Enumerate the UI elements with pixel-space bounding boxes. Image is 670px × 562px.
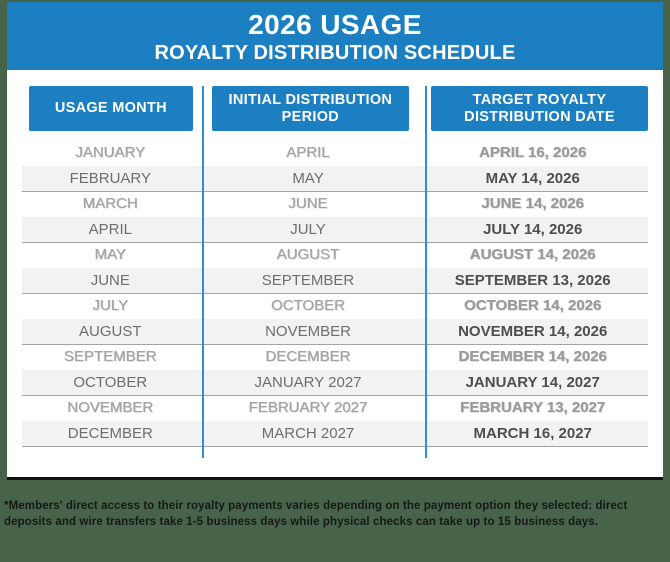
table-header-row: USAGE MONTH INITIAL DISTRIBUTION PERIOD … [22, 86, 648, 131]
cell-usage-month: JULY [22, 297, 199, 314]
schedule-table: USAGE MONTH INITIAL DISTRIBUTION PERIOD … [7, 86, 663, 446]
cell-usage-month: FEBRUARY [22, 170, 199, 187]
cell-usage-month: JANUARY [22, 144, 199, 161]
cell-target-date: JULY 14, 2026 [417, 221, 648, 238]
table-row: OCTOBER JANUARY 2027 JANUARY 14, 2027 [22, 370, 648, 396]
cell-initial-period: SEPTEMBER [199, 272, 418, 289]
footnote-text: *Members' direct access to their royalty… [0, 498, 670, 530]
column-divider-1 [202, 86, 204, 458]
table-row: SEPTEMBER DECEMBER DECEMBER 14, 2026 [22, 344, 648, 370]
column-header-target-royalty-distribution-date: TARGET ROYALTY DISTRIBUTION DATE [431, 86, 648, 131]
cell-usage-month: JUNE [22, 272, 199, 289]
cell-target-date: AUGUST 14, 2026 [417, 246, 648, 263]
cell-target-date: MAY 14, 2026 [417, 170, 648, 187]
cell-target-date: MARCH 16, 2027 [417, 425, 648, 442]
cell-initial-period: AUGUST [199, 246, 418, 263]
cell-target-date: FEBRUARY 13, 2027 [417, 399, 648, 416]
table-row: DECEMBER MARCH 2027 MARCH 16, 2027 [22, 421, 648, 447]
cell-initial-period: MARCH 2027 [199, 425, 418, 442]
cell-initial-period: DECEMBER [199, 348, 418, 365]
cell-usage-month: MARCH [22, 195, 199, 212]
cell-initial-period: JUNE [199, 195, 418, 212]
page-subtitle: ROYALTY DISTRIBUTION SCHEDULE [7, 41, 663, 65]
schedule-card: 2026 USAGE ROYALTY DISTRIBUTION SCHEDULE… [7, 2, 663, 480]
table-row: NOVEMBER FEBRUARY 2027 FEBRUARY 13, 2027 [22, 395, 648, 421]
table-row: AUGUST NOVEMBER NOVEMBER 14, 2026 [22, 319, 648, 345]
cell-target-date: NOVEMBER 14, 2026 [417, 323, 648, 340]
cell-usage-month: NOVEMBER [22, 399, 199, 416]
cell-initial-period: OCTOBER [199, 297, 418, 314]
cell-target-date: DECEMBER 14, 2026 [417, 348, 648, 365]
header-banner: 2026 USAGE ROYALTY DISTRIBUTION SCHEDULE [7, 2, 663, 70]
column-header-initial-distribution-period: INITIAL DISTRIBUTION PERIOD [212, 86, 409, 131]
table-body: JANUARY APRIL APRIL 16, 2026 FEBRUARY MA… [22, 140, 648, 446]
cell-usage-month: DECEMBER [22, 425, 199, 442]
cell-initial-period: NOVEMBER [199, 323, 418, 340]
cell-usage-month: AUGUST [22, 323, 199, 340]
table-row: FEBRUARY MAY MAY 14, 2026 [22, 166, 648, 192]
cell-usage-month: OCTOBER [22, 374, 199, 391]
cell-target-date: APRIL 16, 2026 [417, 144, 648, 161]
cell-target-date: JANUARY 14, 2027 [417, 374, 648, 391]
cell-initial-period: FEBRUARY 2027 [199, 399, 418, 416]
table-row: JUNE SEPTEMBER SEPTEMBER 13, 2026 [22, 268, 648, 294]
cell-initial-period: APRIL [199, 144, 418, 161]
cell-target-date: JUNE 14, 2026 [417, 195, 648, 212]
cell-initial-period: MAY [199, 170, 418, 187]
column-header-usage-month: USAGE MONTH [29, 86, 193, 131]
table-row: MARCH JUNE JUNE 14, 2026 [22, 191, 648, 217]
table-row: JANUARY APRIL APRIL 16, 2026 [22, 140, 648, 166]
cell-initial-period: JULY [199, 221, 418, 238]
cell-usage-month: SEPTEMBER [22, 348, 199, 365]
table-row: MAY AUGUST AUGUST 14, 2026 [22, 242, 648, 268]
column-divider-2 [425, 86, 427, 458]
cell-target-date: OCTOBER 14, 2026 [417, 297, 648, 314]
table-row: APRIL JULY JULY 14, 2026 [22, 217, 648, 243]
page-title: 2026 USAGE [7, 9, 663, 41]
cell-initial-period: JANUARY 2027 [199, 374, 418, 391]
table-row: JULY OCTOBER OCTOBER 14, 2026 [22, 293, 648, 319]
cell-usage-month: MAY [22, 246, 199, 263]
cell-target-date: SEPTEMBER 13, 2026 [417, 272, 648, 289]
cell-usage-month: APRIL [22, 221, 199, 238]
